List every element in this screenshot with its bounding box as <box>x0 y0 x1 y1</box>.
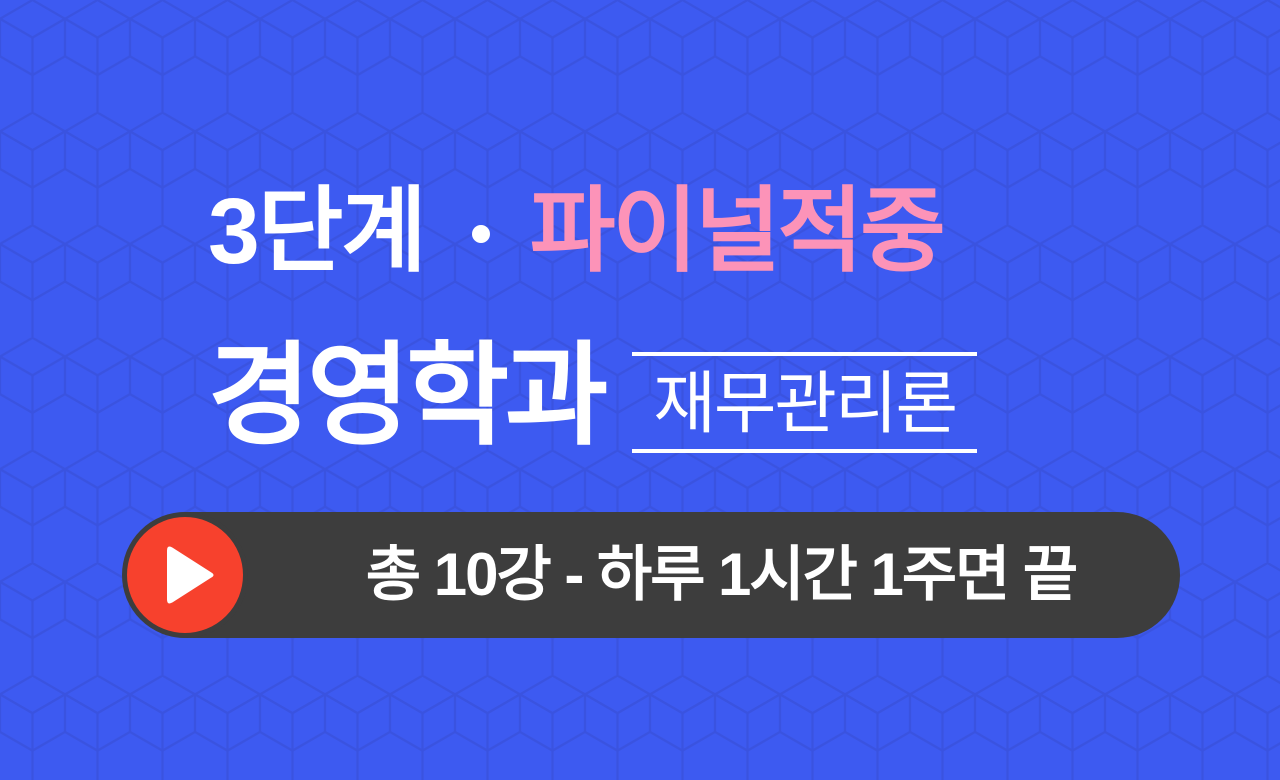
play-button[interactable] <box>122 512 248 638</box>
course-name-label: 재무관리론 <box>638 370 971 439</box>
course-promo-banner: 3단계 파이널적중 경영학과 재무관리론 총 10강 - 하루 1시간 1주면 … <box>0 0 1280 780</box>
highlight-label: 파이널적중 <box>530 185 943 278</box>
course-name-box: 재무관리론 <box>632 352 977 453</box>
department-title: 경영학과 <box>208 330 604 462</box>
play-triangle-icon <box>161 544 217 606</box>
eyebrow-line: 3단계 파이널적중 <box>208 172 943 290</box>
course-summary-pill[interactable]: 총 10강 - 하루 1시간 1주면 끝 <box>124 512 1180 638</box>
course-summary-caption: 총 10강 - 하루 1시간 1주면 끝 <box>302 545 1140 605</box>
stage-label: 3단계 <box>208 185 425 278</box>
banner-content: 3단계 파이널적중 경영학과 재무관리론 총 10강 - 하루 1시간 1주면 … <box>0 0 1280 780</box>
title-line: 경영학과 재무관리론 <box>208 330 977 475</box>
bullet-dot-icon <box>472 225 490 243</box>
